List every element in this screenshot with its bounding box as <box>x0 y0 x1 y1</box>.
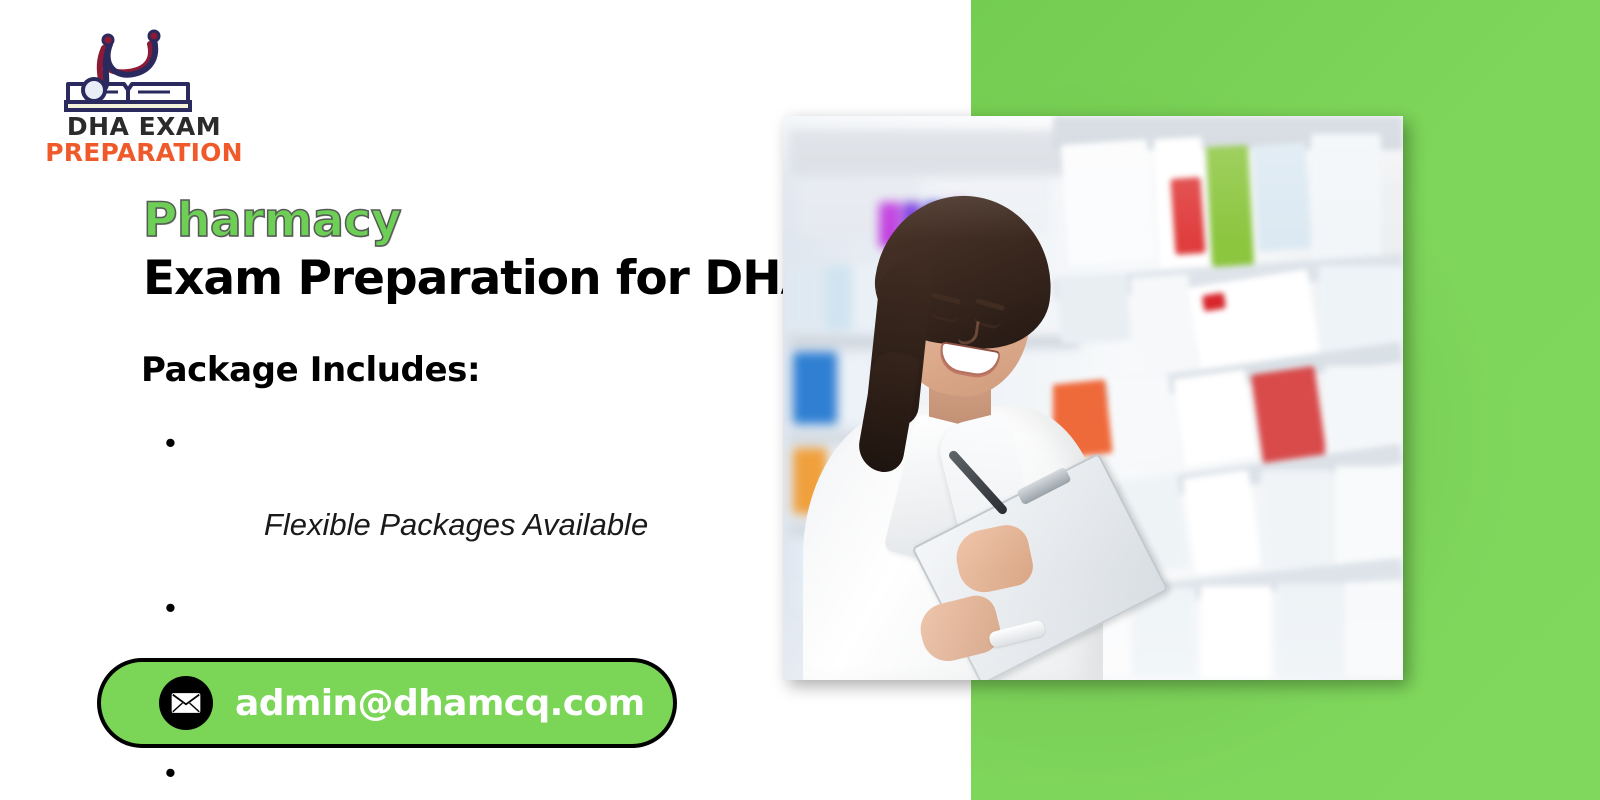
package-title: Package Includes: <box>141 350 801 390</box>
stethoscope-book-icon <box>58 22 198 114</box>
bullet-icon: • <box>165 752 176 793</box>
brand-line-2: PREPARATION <box>44 140 244 166</box>
headline-block: Pharmacy Exam Preparation for DHA <box>143 196 823 306</box>
envelope-icon <box>159 676 213 730</box>
headline-eyebrow: Pharmacy <box>143 196 823 245</box>
page-title: Exam Preparation for DHA <box>143 253 823 306</box>
brand-logo-wordmark: DHA EXAM PREPARATION <box>44 114 244 165</box>
pharmacist-figure <box>803 156 1133 680</box>
email-contact-button[interactable]: admin@dhamcq.com <box>97 658 677 748</box>
list-item: • 180 minutes for every sets <box>141 752 801 800</box>
brand-line-1: DHA EXAM <box>44 114 244 140</box>
list-item-label: Flexible Packages Available <box>264 507 648 542</box>
bullet-icon: • <box>165 422 176 463</box>
list-item: • Flexible Packages Available <box>141 422 801 587</box>
promo-poster: DHA EXAM PREPARATION Pharmacy Exam Prepa… <box>0 0 1600 800</box>
email-address-label: admin@dhamcq.com <box>235 683 645 724</box>
pharmacist-photo <box>783 116 1403 680</box>
bullet-icon: • <box>165 587 176 628</box>
brand-logo[interactable]: DHA EXAM PREPARATION <box>44 22 244 162</box>
